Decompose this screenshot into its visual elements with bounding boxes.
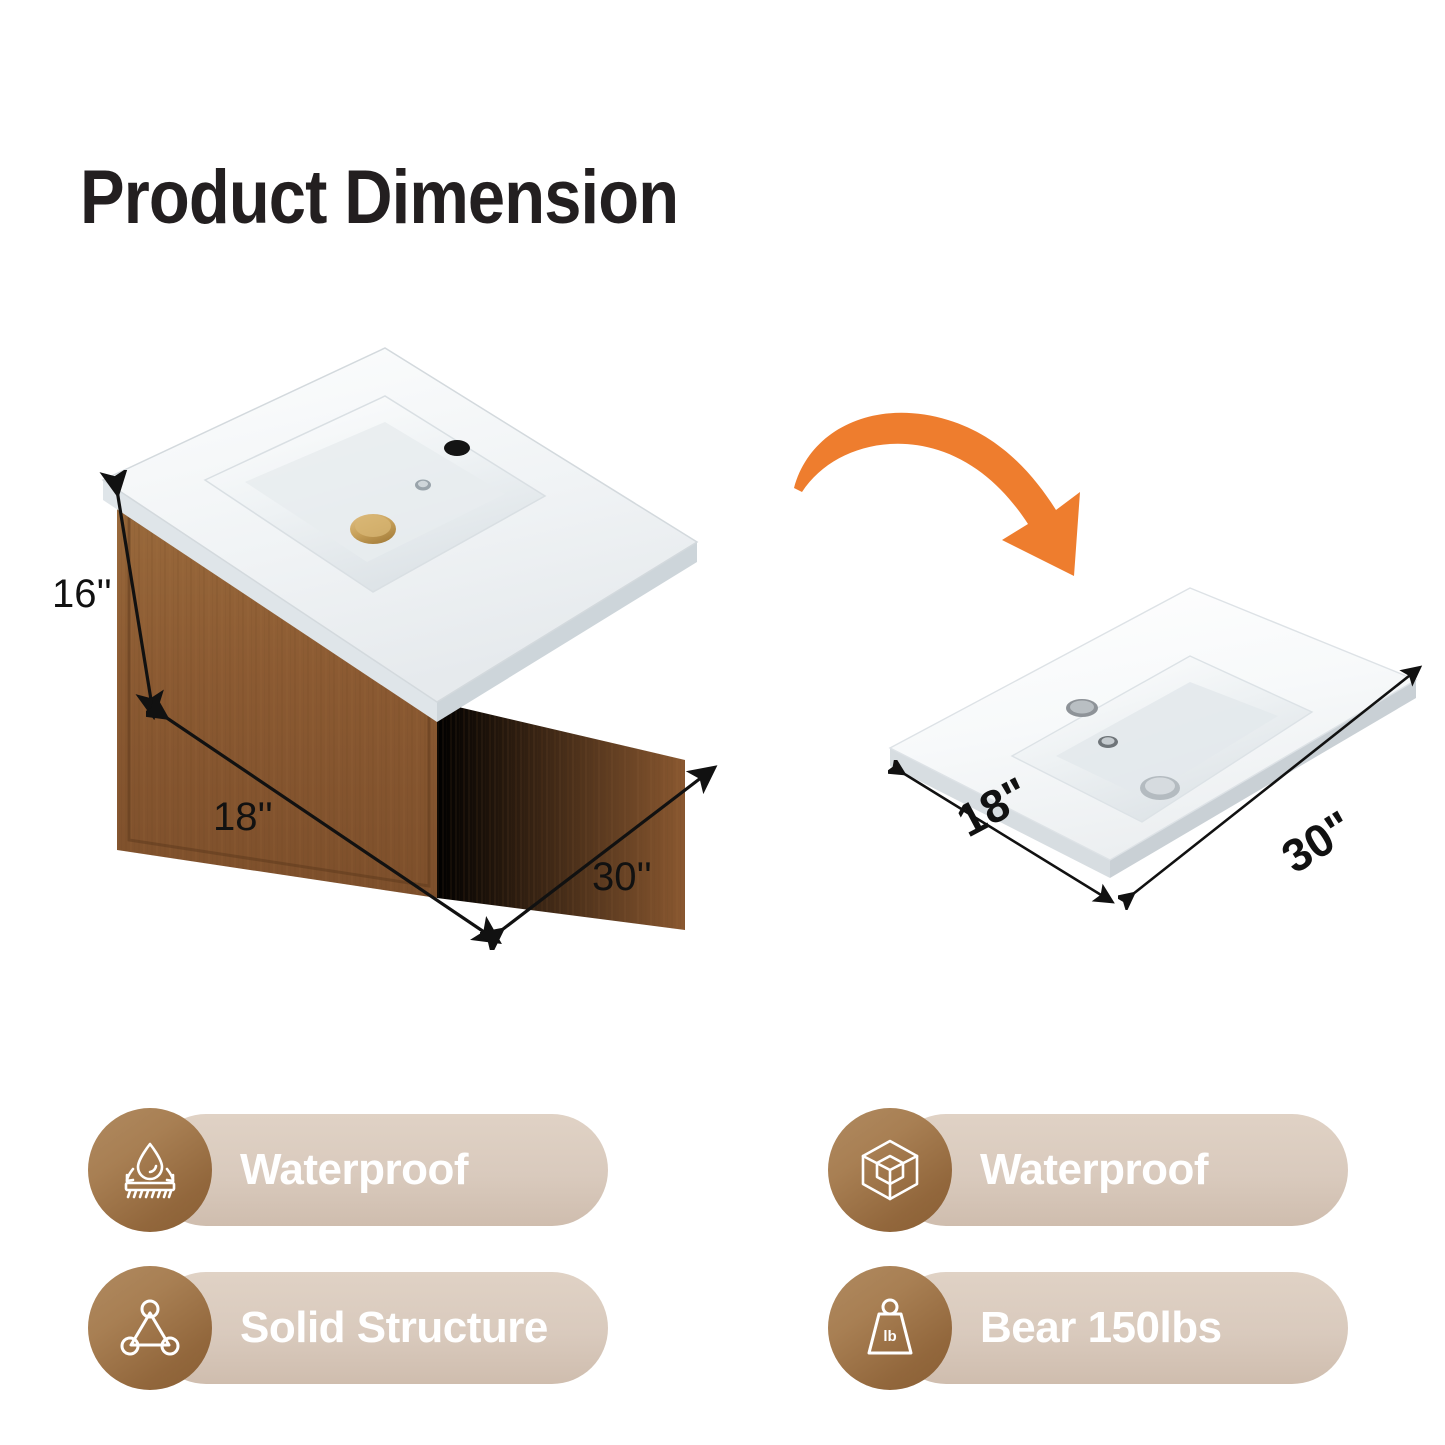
badge-icon-circle: lb <box>828 1266 952 1390</box>
feature-label: Waterproof <box>240 1145 468 1195</box>
weight-lb-icon: lb <box>855 1293 925 1363</box>
feature-label: Solid Structure <box>240 1303 548 1353</box>
page-title: Product Dimension <box>80 154 678 241</box>
dimension-label-depth: 18'' <box>213 795 273 840</box>
depth-dimension-arrow <box>146 700 506 950</box>
triangle-node-icon <box>115 1293 185 1363</box>
feature-label: Bear 150lbs <box>980 1303 1222 1353</box>
product-dimension-infographic: Product Dimension <box>0 0 1445 1445</box>
top-width-dimension-arrow <box>1118 660 1428 910</box>
badge-icon-circle <box>828 1108 952 1232</box>
weight-unit-text: lb <box>883 1328 896 1345</box>
feature-badge-waterproof-board[interactable]: Waterproof <box>828 1108 1348 1232</box>
dimension-label-width: 30'' <box>592 855 652 900</box>
feature-badge-weight-capacity[interactable]: lb Bear 150lbs <box>828 1266 1348 1390</box>
feature-badge-grid: Waterproof Waterproof <box>88 1108 1360 1420</box>
dimension-label-height: 16'' <box>52 572 112 617</box>
feature-badge-solid-structure[interactable]: Solid Structure <box>88 1266 608 1390</box>
feature-badge-waterproof-surface[interactable]: Waterproof <box>88 1108 608 1232</box>
badge-icon-circle <box>88 1108 212 1232</box>
water-droplet-repel-icon <box>113 1133 187 1207</box>
badge-icon-circle <box>88 1266 212 1390</box>
feature-label: Waterproof <box>980 1145 1208 1195</box>
cube-box-icon <box>855 1135 925 1205</box>
faucet-hole <box>444 440 470 456</box>
